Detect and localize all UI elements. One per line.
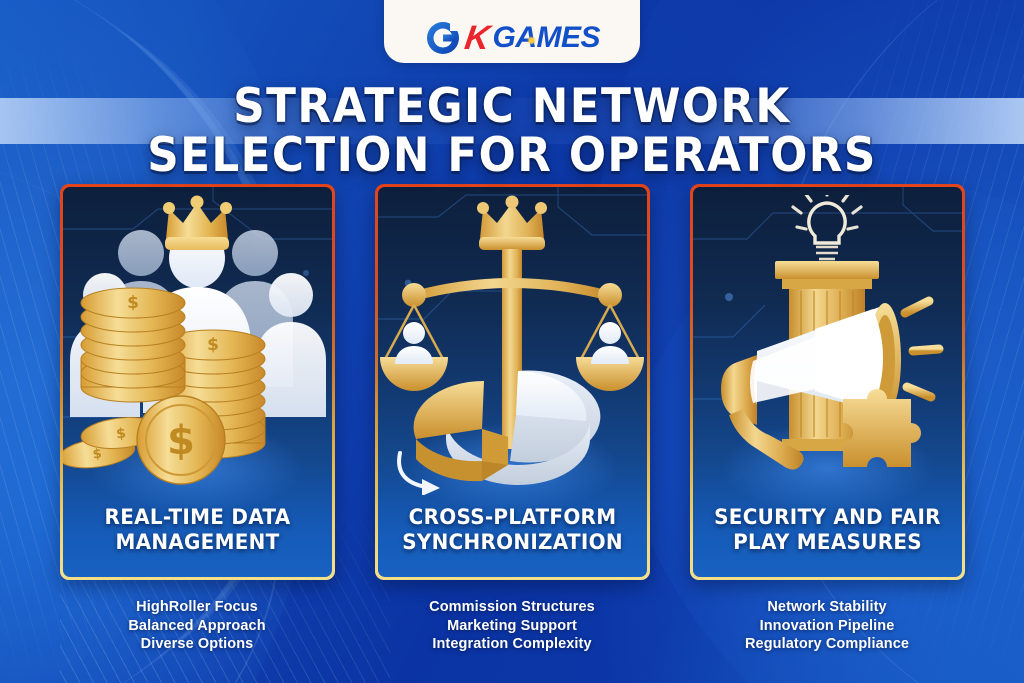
card-title-1-line-1: REAL-TIME DATA [104, 505, 290, 529]
feature-card-list: $ $ [0, 184, 1024, 580]
bullet-column-1: HighRoller Focus Balanced Approach Diver… [60, 598, 335, 654]
card-title-2-line-1: CROSS-PLATFORM [408, 505, 616, 529]
card-inner-1: $ $ [63, 187, 332, 577]
logo-o-icon [424, 20, 464, 56]
infographic-poster: K GAMES STRATEGIC NETWORK SELECTION FOR … [0, 0, 1024, 683]
card-title-3-line-1: SECURITY AND FAIR [714, 505, 941, 529]
ok-games-logo: K GAMES [424, 20, 600, 56]
bullet-item: Commission Structures [375, 598, 650, 617]
page-title-line-1: STRATEGIC NETWORK [36, 82, 988, 131]
bullet-column-3: Network Stability Innovation Pipeline Re… [690, 598, 965, 654]
bullet-item: Regulatory Compliance [690, 635, 965, 654]
card-inner-3: SECURITY AND FAIR PLAY MEASURES [693, 187, 962, 577]
svg-text:$: $ [207, 335, 219, 355]
card-artwork-scale-and-pie [378, 195, 647, 495]
brand-logo-plate: K GAMES [384, 0, 640, 63]
bullet-item: Marketing Support [375, 617, 650, 636]
bullet-item: Integration Complexity [375, 635, 650, 654]
feature-card-security-and-fair-play[interactable]: SECURITY AND FAIR PLAY MEASURES [690, 184, 965, 580]
bullet-column-2: Commission Structures Marketing Support … [375, 598, 650, 654]
bullet-item: Innovation Pipeline [690, 617, 965, 636]
svg-text:$: $ [167, 418, 195, 464]
logo-games-text: GAMES [493, 21, 601, 54]
logo-sparkle-icon [527, 36, 536, 45]
svg-text:$: $ [115, 426, 126, 443]
page-title-line-2: SELECTION FOR OPERATORS [36, 131, 988, 180]
card-title-3-line-2: PLAY MEASURES [733, 530, 922, 554]
card-title-1-line-2: MANAGEMENT [115, 530, 279, 554]
logo-games-word: GAMES [493, 23, 601, 53]
bullet-item: HighRoller Focus [60, 598, 335, 617]
bullet-item: Network Stability [690, 598, 965, 617]
bullet-list-row: HighRoller Focus Balanced Approach Diver… [0, 598, 1024, 654]
card-artwork-people-and-coins: $ $ [63, 195, 332, 495]
svg-text:$: $ [127, 293, 139, 313]
card-title-2-line-2: SYNCHRONIZATION [402, 530, 623, 554]
card-artwork-megaphone-pillar [693, 195, 962, 495]
card-title-2: CROSS-PLATFORM SYNCHRONIZATION [384, 505, 640, 555]
bullet-item: Diverse Options [60, 635, 335, 654]
logo-k-letter: K [463, 21, 491, 55]
feature-card-cross-platform-synchronization[interactable]: CROSS-PLATFORM SYNCHRONIZATION [375, 184, 650, 580]
card-title-3: SECURITY AND FAIR PLAY MEASURES [699, 505, 955, 555]
card-title-1: REAL-TIME DATA MANAGEMENT [69, 505, 325, 555]
card-inner-2: CROSS-PLATFORM SYNCHRONIZATION [378, 187, 647, 577]
page-title: STRATEGIC NETWORK SELECTION FOR OPERATOR… [0, 82, 1024, 180]
bullet-item: Balanced Approach [60, 617, 335, 636]
feature-card-real-time-data-management[interactable]: $ $ [60, 184, 335, 580]
